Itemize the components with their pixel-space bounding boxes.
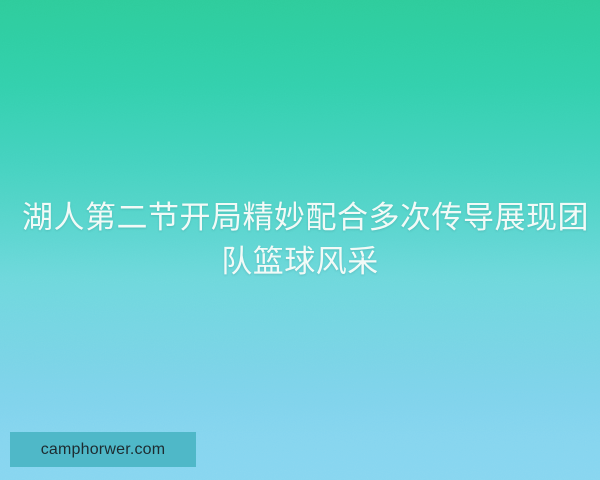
image-canvas: 湖人第二节开局精妙配合多次传导展现团 队篮球风采 camphorwer.com [0, 0, 600, 480]
watermark-text: camphorwer.com [41, 442, 166, 458]
watermark-badge: camphorwer.com [10, 432, 196, 467]
title-line-1: 湖人第二节开局精妙配合多次传导展现团 [22, 196, 578, 240]
page-title: 湖人第二节开局精妙配合多次传导展现团 队篮球风采 [0, 196, 600, 284]
title-line-2: 队篮球风采 [22, 240, 578, 284]
